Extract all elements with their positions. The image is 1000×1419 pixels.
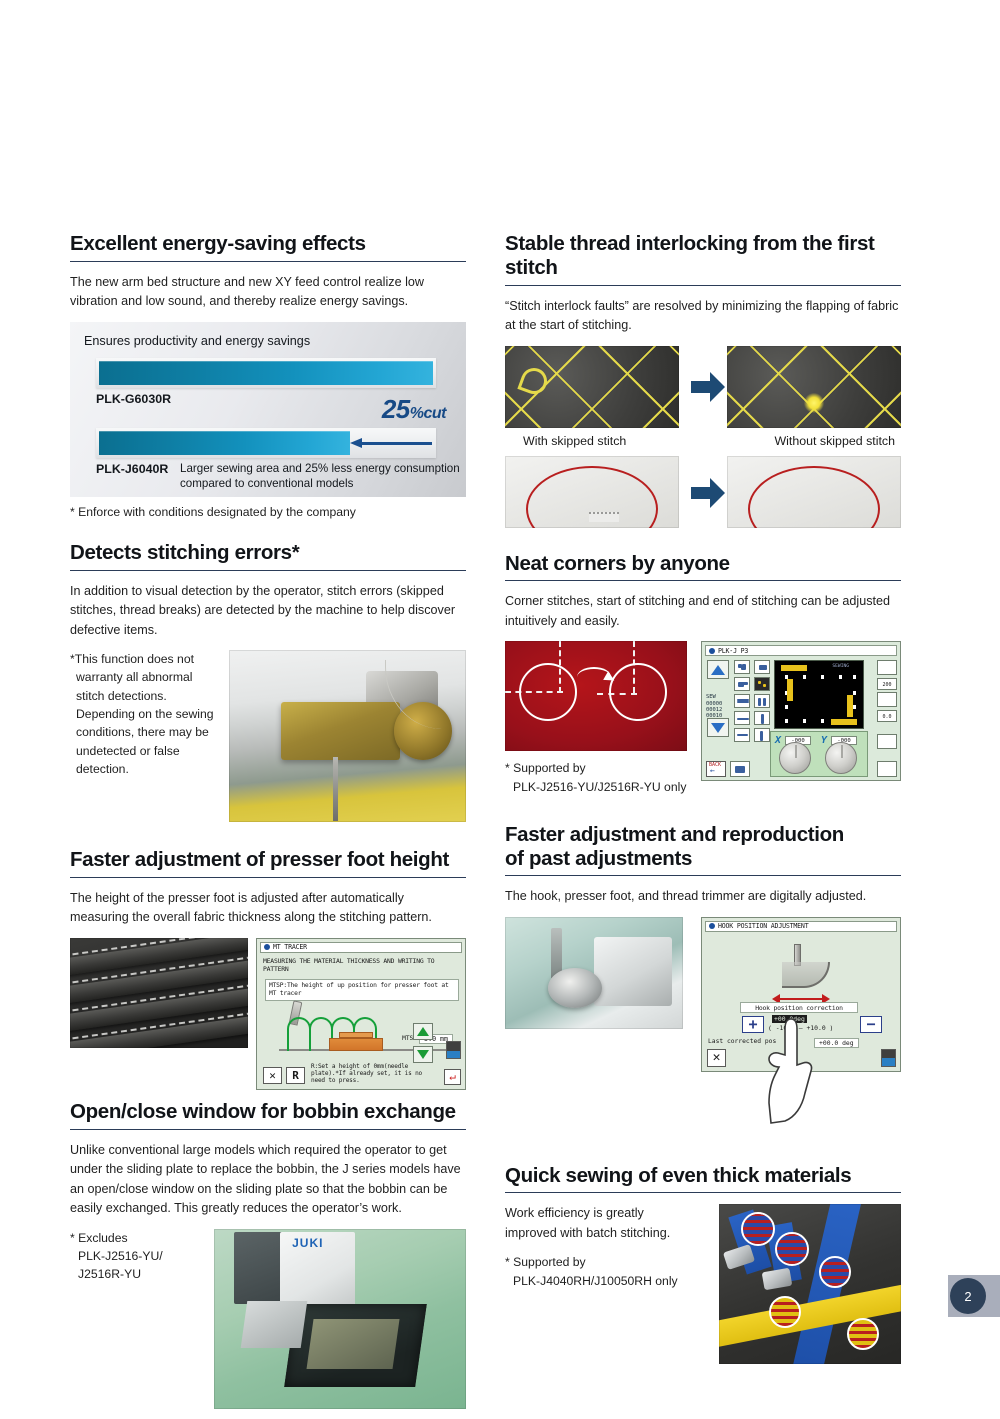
lcd-mt-description: MEASURING THE MATERIAL THICKNESS AND WRI… xyxy=(263,957,459,973)
lcd-p3-icon-1[interactable] xyxy=(734,660,750,674)
lcd-p3-icon-6[interactable] xyxy=(754,694,770,708)
lcd-mt-close-button[interactable]: ✕ xyxy=(263,1067,282,1084)
lcd-p3-icon-4[interactable] xyxy=(754,677,770,691)
section-detects-errors: Detects stitching errors* In addition to… xyxy=(70,541,466,830)
energy-chart: Ensures productivity and energy savings … xyxy=(70,322,466,497)
photo-bobbin-window: JUKI xyxy=(214,1229,466,1409)
arrow-up-icon xyxy=(417,1027,429,1036)
lcd-p3-title: PLK-J P3 xyxy=(718,647,748,655)
section-thick-materials: Quick sewing of even thick materials Wor… xyxy=(505,1164,901,1395)
lcd-p3-titlebar: PLK-J P3 xyxy=(705,645,897,656)
bar-label-g6030r: PLK-G6030R xyxy=(96,392,171,406)
lcd-hook-titlebar: HOOK POSITION ADJUSTMENT xyxy=(705,921,897,932)
page-title-detects-errors: Detects stitching errors* xyxy=(70,541,466,571)
lcd-mt-title: MT TRACER xyxy=(273,943,307,951)
photo-quilt-with-skipped-stitch xyxy=(505,346,679,428)
photo-quilt-without-skipped-stitch xyxy=(727,346,901,428)
page-title-reproduction: Faster adjustment and reproduction of pa… xyxy=(505,823,901,876)
section-neat-corners: Neat corners by anyone Corner stitches, … xyxy=(505,552,901,804)
lcd-p3-scroll-down-button[interactable] xyxy=(707,718,729,737)
neat-corners-body: Corner stitches, start of stitching and … xyxy=(505,592,901,631)
lcd-mt-enter-button[interactable]: ↵ xyxy=(444,1069,461,1085)
caption-with-skipped-stitch: With skipped stitch xyxy=(523,434,626,448)
lcd-mt-save-button[interactable] xyxy=(446,1041,461,1059)
bar-track-g6030r xyxy=(96,358,436,388)
bobbin-window-note: * Excludes PLK-J2516-YU/ J2516R-YU xyxy=(70,1229,210,1284)
chart-annotation-caption: Larger sewing area and 25% less energy c… xyxy=(180,461,460,492)
arrow-right-icon-bottom xyxy=(691,478,725,508)
bar-fill-g6030r xyxy=(99,361,433,385)
highlight-circle-1 xyxy=(741,1212,775,1246)
presser-foot-body: The height of the presser foot is adjust… xyxy=(70,889,466,928)
bobbin-note-line3: J2516R-YU xyxy=(70,1265,210,1283)
page-title-thick-materials: Quick sewing of even thick materials xyxy=(505,1164,901,1194)
highlight-circle-5 xyxy=(847,1318,879,1350)
highlight-circle-2 xyxy=(775,1232,809,1266)
page-title-bobbin-window: Open/close window for bobbin exchange xyxy=(70,1100,466,1130)
page-title-thread-interlocking: Stable thread interlocking from the firs… xyxy=(505,232,901,286)
lcd-p3-icon-3[interactable] xyxy=(734,677,750,691)
lcd-p3-icon-9[interactable] xyxy=(734,728,750,742)
section-presser-foot: Faster adjustment of presser foot height… xyxy=(70,848,466,1094)
section-bobbin-window: Open/close window for bobbin exchange Un… xyxy=(70,1100,466,1419)
lcd-p3-icon-5[interactable] xyxy=(734,694,750,708)
lcd-hook-correction-label: Hook position correction xyxy=(740,1002,858,1013)
lcd-p3-side-button-1[interactable] xyxy=(877,660,897,675)
arrow-right-icon-top xyxy=(691,372,725,402)
lcd-p3-side-button-2[interactable] xyxy=(877,692,897,707)
lcd-p3-y-jog-dial[interactable] xyxy=(825,742,857,774)
lcd-p3-x-axis-label: X xyxy=(775,735,781,746)
cut-number: 25 xyxy=(382,394,410,424)
lcd-p3-screen-label: SEWING xyxy=(832,664,849,669)
page-title-energy-saving: Excellent energy-saving effects xyxy=(70,232,466,262)
thread-interlocking-body: “Stitch interlock faults” are resolved b… xyxy=(505,297,901,336)
bobbin-window-body: Unlike conventional large models which r… xyxy=(70,1141,466,1219)
cut-badge: 25%cut xyxy=(382,394,446,425)
lcd-mt-increase-button[interactable] xyxy=(413,1023,433,1040)
photo-quilted-seat-rows xyxy=(70,938,248,1048)
cut-word: cut xyxy=(424,405,447,422)
energy-saving-body: The new arm bed structure and new XY fee… xyxy=(70,273,466,312)
lcd-hook-save-button[interactable] xyxy=(881,1049,896,1067)
status-dot-icon xyxy=(264,944,270,950)
pointing-hand-icon xyxy=(761,1013,827,1125)
lcd-hook-minus-button[interactable]: − xyxy=(860,1016,882,1033)
lcd-mt-hint-box: MTSP:The height of up position for press… xyxy=(265,979,459,1001)
section-thread-interlocking: Stable thread interlocking from the firs… xyxy=(505,232,901,528)
lcd-plk-j-p3[interactable]: PLK-J P3 SEW 00000 00012 00010 xyxy=(701,641,901,781)
lcd-p3-pattern-display[interactable]: SEWING xyxy=(774,660,864,729)
photo-brand-label: JUKI xyxy=(292,1236,323,1250)
arrow-up-icon xyxy=(711,665,725,675)
caption-without-skipped-stitch: Without skipped stitch xyxy=(774,434,895,448)
lcd-p3-side-value-1: 200 xyxy=(877,678,897,690)
detects-errors-body: In addition to visual detection by the o… xyxy=(70,582,466,641)
highlight-circle-4 xyxy=(769,1296,801,1328)
corners-note-line2: PLK-J2516-YU/J2516R-YU only xyxy=(505,778,701,796)
status-dot-icon xyxy=(709,923,715,929)
neat-corners-note: * Supported by PLK-J2516-YU/J2516R-YU on… xyxy=(505,759,701,796)
page-title-neat-corners: Neat corners by anyone xyxy=(505,552,901,582)
lcd-hook-close-button[interactable]: ✕ xyxy=(707,1049,726,1067)
bobbin-note-line1: * Excludes xyxy=(70,1229,210,1247)
lcd-p3-back-button[interactable]: BACK ← xyxy=(706,761,726,777)
lcd-p3-x-jog-dial[interactable] xyxy=(779,742,811,774)
reproduction-body: The hook, presser foot, and thread trimm… xyxy=(505,887,901,907)
lcd-p3-scroll-up-button[interactable] xyxy=(707,660,729,679)
arrow-down-icon xyxy=(417,1050,429,1059)
highlight-circle-3 xyxy=(819,1256,851,1288)
lcd-mt-decrease-button[interactable] xyxy=(413,1046,433,1063)
cut-arrow-icon xyxy=(350,439,432,448)
corners-note-line1: * Supported by xyxy=(505,759,701,777)
lcd-mt-bottom-text: R:Set a height of 0mm(needle plate).*If … xyxy=(311,1063,435,1085)
reproduction-title-line1: Faster adjustment and reproduction xyxy=(505,823,844,846)
lcd-p3-home-button[interactable] xyxy=(730,761,750,777)
reproduction-title-line2: of past adjustments xyxy=(505,847,692,870)
photo-corner-stitches xyxy=(505,641,687,751)
page-number-badge: 2 xyxy=(948,1275,1000,1317)
photo-stitch-error-sensor xyxy=(229,650,466,822)
page-number: 2 xyxy=(950,1278,986,1314)
stitch-lock-point-icon xyxy=(804,393,824,413)
energy-saving-footnote: * Enforce with conditions designated by … xyxy=(70,505,466,519)
photo-thick-material-straps xyxy=(719,1204,901,1364)
lcd-mt-thickness-graph xyxy=(287,1009,387,1051)
arrow-down-icon xyxy=(711,723,725,733)
lcd-mt-reset-button[interactable]: R xyxy=(286,1067,305,1084)
thick-materials-body: Work efficiency is greatly improved with… xyxy=(505,1204,695,1243)
photo-red-curve-clean xyxy=(727,456,901,528)
lcd-p3-icon-8[interactable] xyxy=(754,711,770,725)
chart-title: Ensures productivity and energy savings xyxy=(84,334,310,348)
right-column: Stable thread interlocking from the firs… xyxy=(505,232,901,1394)
lcd-p3-icon-10[interactable] xyxy=(754,728,770,742)
bar-label-j6040r: PLK-J6040R xyxy=(96,462,168,476)
bar-fill-j6040r xyxy=(99,431,350,455)
bobbin-note-line2: PLK-J2516-YU/ xyxy=(70,1247,210,1265)
hook-diagram-icon xyxy=(758,944,844,990)
lcd-mt-titlebar: MT TRACER xyxy=(260,942,462,953)
lcd-hook-title: HOOK POSITION ADJUSTMENT xyxy=(718,922,808,930)
lcd-mt-tracer[interactable]: MT TRACER MEASURING THE MATERIAL THICKNE… xyxy=(256,938,466,1090)
detects-errors-note: *This function does not warranty all abn… xyxy=(70,650,220,778)
page-title-presser-foot: Faster adjustment of presser foot height xyxy=(70,848,466,878)
lcd-p3-icon-7[interactable] xyxy=(734,711,750,725)
lcd-p3-side-button-3[interactable] xyxy=(877,734,897,749)
thick-note-line1: * Supported by xyxy=(505,1253,695,1271)
lcd-p3-counters: SEW 00000 00012 00010 xyxy=(706,694,722,720)
skipped-stitch-loop-icon xyxy=(517,364,550,397)
lcd-p3-y-axis-label: Y xyxy=(821,735,827,746)
photo-red-curve-defect xyxy=(505,456,679,528)
photo-hook-area xyxy=(505,917,683,1029)
status-dot-icon xyxy=(709,648,715,654)
brochure-page: Excellent energy-saving effects The new … xyxy=(0,0,1000,1415)
lcd-p3-xy-jog-panel[interactable]: X -000 Y -000 xyxy=(770,731,868,777)
thick-note-line2: PLK-J4040RH/J10050RH only xyxy=(505,1272,695,1290)
section-reproduction: Faster adjustment and reproduction of pa… xyxy=(505,823,901,1101)
lcd-p3-side-value-2: 0.0 xyxy=(877,710,897,722)
section-energy-saving: Excellent energy-saving effects The new … xyxy=(70,232,466,519)
lcd-p3-icon-2[interactable] xyxy=(754,660,770,674)
cut-percent-sign: % xyxy=(410,405,424,422)
left-column: Excellent energy-saving effects The new … xyxy=(70,232,466,1419)
lcd-p3-side-button-4[interactable] xyxy=(877,761,897,777)
